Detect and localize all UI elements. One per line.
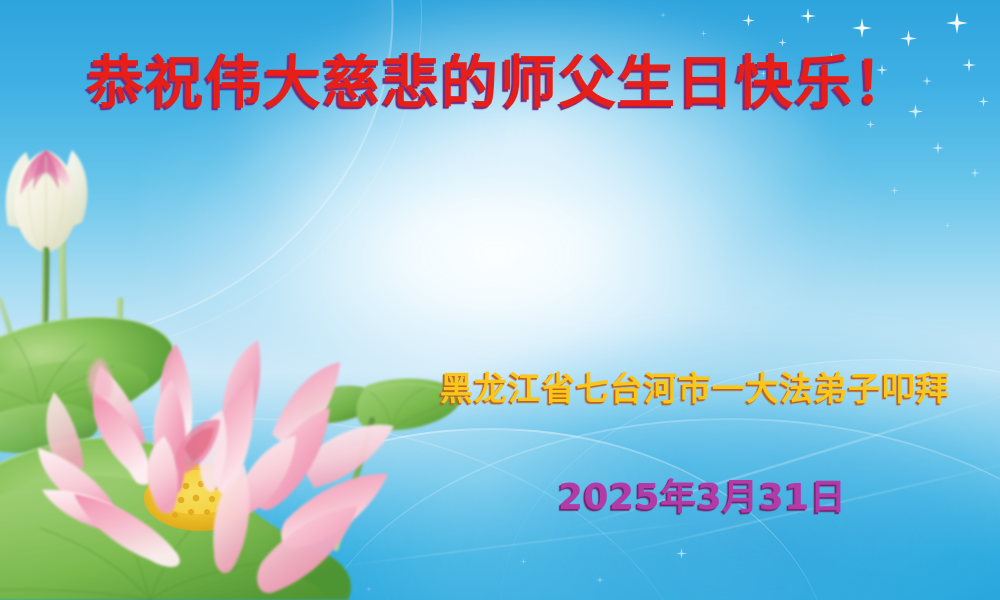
background-deep-blue-right [280,312,1000,600]
page-title: 恭祝伟大慈悲的师父生日快乐！ [0,50,1000,117]
greeting-card: 恭祝伟大慈悲的师父生日快乐！ 黑龙江省七台河市一大法弟子叩拜 2025年3月31… [0,0,1000,600]
signature-line: 黑龙江省七台河市一大法弟子叩拜 [440,362,950,410]
date-line: 2025年3月31日 [558,468,846,520]
